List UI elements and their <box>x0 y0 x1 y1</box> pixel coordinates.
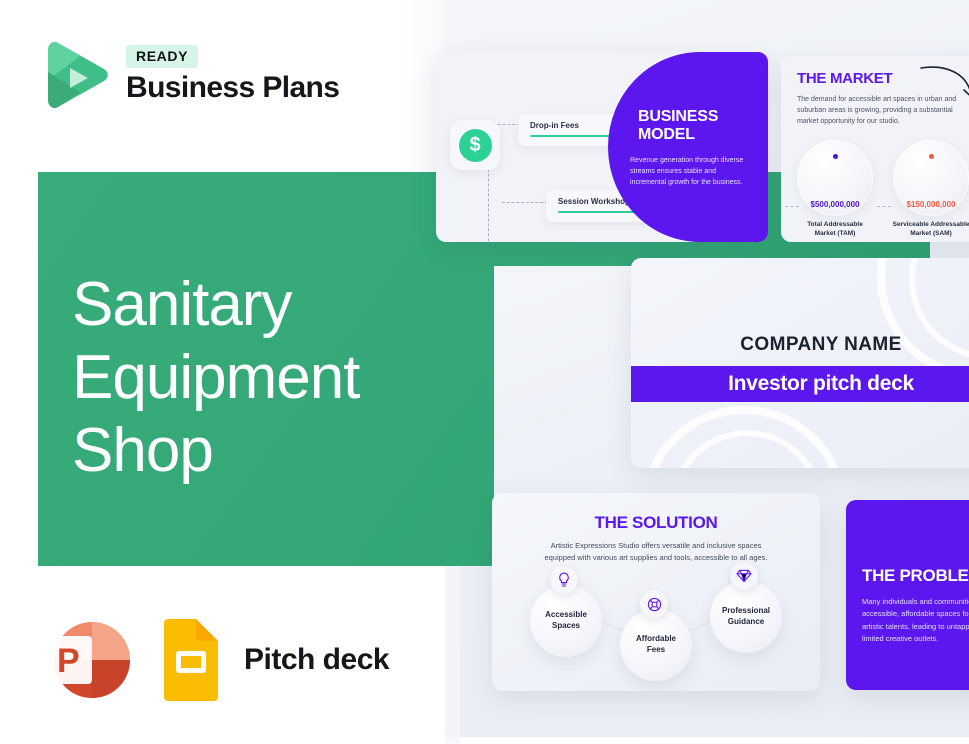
solution-item[interactable]: Affordable Fees <box>620 609 692 681</box>
problem-description: Many individuals and communities lack ac… <box>862 596 969 646</box>
play-triangle-logo-icon <box>40 36 112 114</box>
solution-item-label: Accessible Spaces <box>545 610 587 632</box>
powerpoint-icon: P <box>40 616 138 704</box>
brand-logo: READY Business Plans <box>40 36 339 114</box>
solution-item-label-line-2: Guidance <box>722 617 770 628</box>
lifebuoy-icon <box>640 590 668 618</box>
cover-subtitle: Investor pitch deck <box>728 372 914 396</box>
solution-item-label-line-1: Affordable <box>636 634 676 645</box>
slide-the-problem[interactable]: THE PROBLEM Many individuals and communi… <box>846 500 969 690</box>
market-caption-tam-line-2: Market (TAM) <box>788 229 882 238</box>
page-title-line-1: Sanitary <box>72 268 472 341</box>
market-caption-tam-line-1: Total Addressable <box>788 220 882 229</box>
business-model-title-line-2: MODEL <box>638 126 754 144</box>
dollar-icon: $ <box>450 120 500 170</box>
cover-subtitle-band: Investor pitch deck <box>631 366 969 402</box>
problem-title: THE PROBLEM <box>862 566 969 586</box>
market-dot-tam <box>833 154 838 159</box>
solution-title: THE SOLUTION <box>492 513 820 533</box>
page-title: Sanitary Equipment Shop <box>72 268 472 487</box>
slide-cover[interactable]: COMPANY NAME Investor pitch deck <box>631 258 969 468</box>
poster-canvas: READY Business Plans Sanitary Equipment … <box>0 0 969 744</box>
market-dot-sam <box>929 154 934 159</box>
market-description: The demand for accessible art spaces in … <box>797 94 965 128</box>
business-model-title-line-1: BUSINESS <box>638 108 754 126</box>
market-value-sam: $150,000,000 <box>887 200 969 209</box>
solution-item[interactable]: Accessible Spaces <box>530 585 602 657</box>
ready-badge: READY <box>126 45 198 68</box>
lightbulb-icon <box>550 566 578 594</box>
page-title-line-3: Shop <box>72 414 472 487</box>
market-caption-tam: Total Addressable Market (TAM) <box>788 220 882 239</box>
google-slides-icon <box>160 619 222 701</box>
solution-description: Artistic Expressions Studio offers versa… <box>538 540 774 565</box>
slide-the-solution[interactable]: THE SOLUTION Artistic Expressions Studio… <box>492 493 820 691</box>
solution-item-label-line-1: Professional <box>722 606 770 617</box>
brand-name: Business Plans <box>126 71 339 105</box>
market-value-tam: $500,000,000 <box>791 200 879 209</box>
solution-item-label-line-2: Fees <box>636 645 676 656</box>
page-title-line-2: Equipment <box>72 341 472 414</box>
market-title: THE MARKET <box>797 70 892 87</box>
solution-item-label: Professional Guidance <box>722 606 770 628</box>
market-caption-sam-line-1: Serviceable Addressable <box>884 220 969 229</box>
slide-business-model[interactable]: $ Drop-in Fees Session Workshops Commiss… <box>436 52 768 242</box>
solution-item-label-line-1: Accessible <box>545 610 587 621</box>
business-model-description: Revenue generation through diverse strea… <box>630 156 754 189</box>
svg-text:P: P <box>57 642 80 680</box>
cover-company-name: COMPANY NAME <box>631 334 969 356</box>
market-caption-sam-line-2: Market (SAM) <box>884 229 969 238</box>
diamond-icon <box>730 562 758 590</box>
slide-the-market[interactable]: THE MARKET The demand for accessible art… <box>781 56 969 242</box>
footer-bar: P Pitch deck <box>40 616 389 704</box>
brand-wordmark: READY Business Plans <box>126 45 339 105</box>
market-caption-sam: Serviceable Addressable Market (SAM) <box>884 220 969 239</box>
business-model-title: BUSINESS MODEL <box>638 108 754 144</box>
solution-item-label-line-2: Spaces <box>545 621 587 632</box>
solution-item[interactable]: Professional Guidance <box>710 581 782 653</box>
solution-item-label: Affordable Fees <box>636 634 676 656</box>
footer-label: Pitch deck <box>244 643 389 677</box>
connector-middle <box>502 202 548 203</box>
